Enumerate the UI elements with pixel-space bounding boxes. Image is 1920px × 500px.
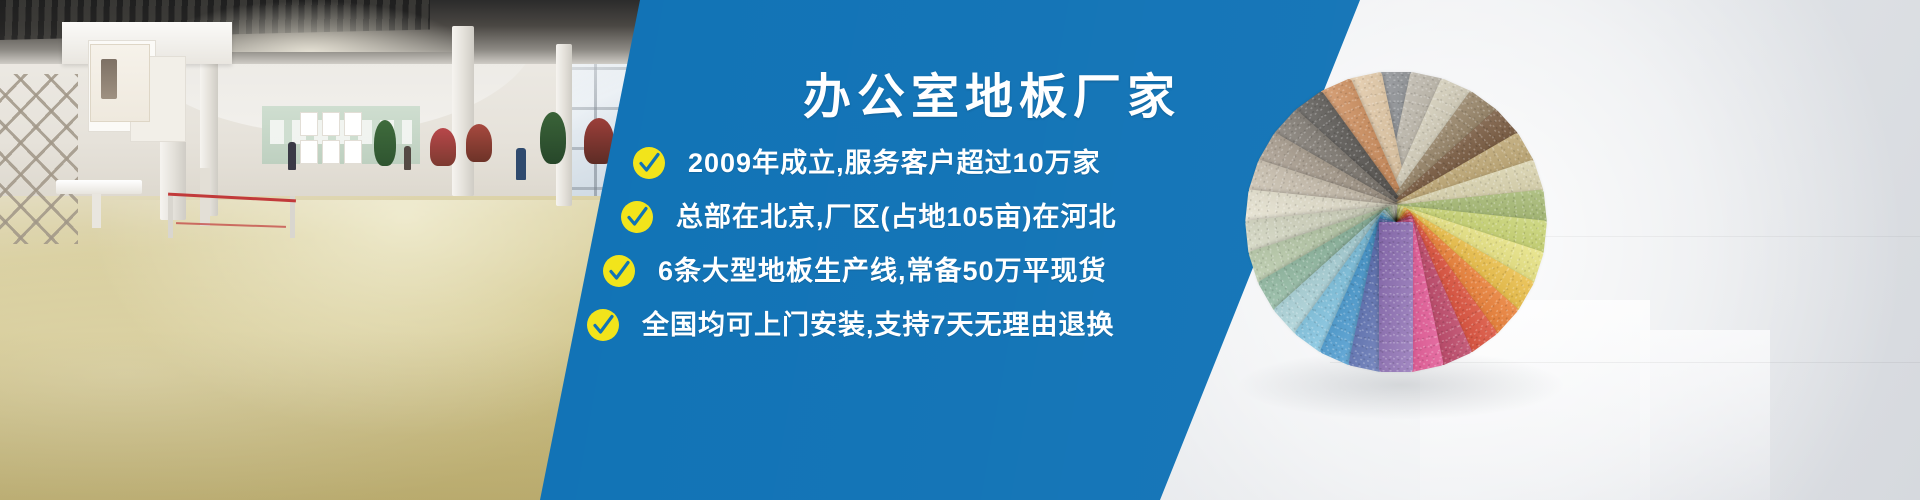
list-item: 6条大型地板生产线,常备50万平现货 xyxy=(602,254,1107,288)
flooring-sample-blade xyxy=(1379,222,1413,372)
check-circle-icon xyxy=(632,146,666,180)
list-item-label: 全国均可上门安装,支持7天无理由退换 xyxy=(642,308,1115,342)
check-circle-icon xyxy=(620,200,654,234)
list-item: 全国均可上门安装,支持7天无理由退换 xyxy=(586,308,1115,342)
banner-content: 办公室地板厂家 2009年成立,服务客户超过10万家 总部在北京,厂区(占地10… xyxy=(0,0,1920,500)
promo-banner: 办公室地板厂家 2009年成立,服务客户超过10万家 总部在北京,厂区(占地10… xyxy=(0,0,1920,500)
feature-list: 2009年成立,服务客户超过10万家 总部在北京,厂区(占地105亩)在河北 6… xyxy=(0,0,1920,500)
check-circle-icon xyxy=(586,308,620,342)
check-circle-icon xyxy=(602,254,636,288)
list-item: 2009年成立,服务客户超过10万家 xyxy=(632,146,1101,180)
list-item-label: 总部在北京,厂区(占地105亩)在河北 xyxy=(676,200,1117,234)
list-item-label: 6条大型地板生产线,常备50万平现货 xyxy=(658,254,1107,288)
list-item-label: 2009年成立,服务客户超过10万家 xyxy=(688,146,1101,180)
list-item: 总部在北京,厂区(占地105亩)在河北 xyxy=(620,200,1117,234)
